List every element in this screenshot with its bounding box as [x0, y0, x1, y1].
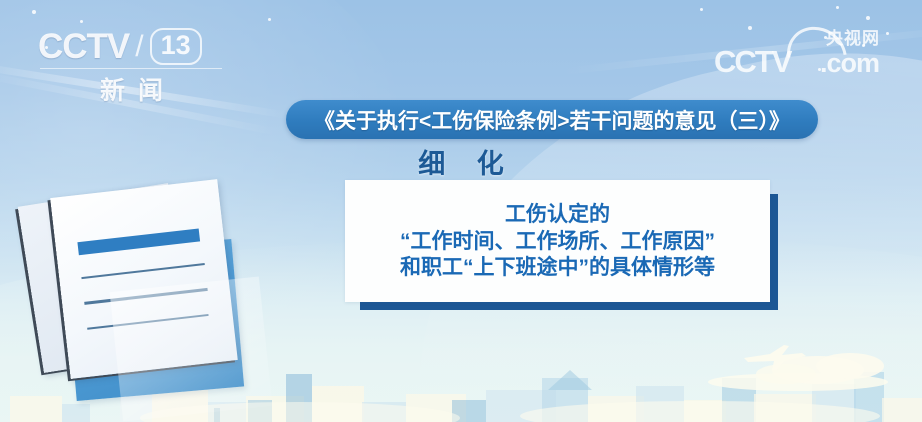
watermark-cn-text: 央视网 [826, 30, 880, 47]
broadcast-graphic-frame: CCTV / 13 新闻 CCTV 央视网 .com 《关于执行<工伤保险条例>… [0, 0, 922, 422]
card-shadow-bottom [360, 302, 778, 310]
document-title-bar [77, 229, 200, 256]
sparkle-dot [836, 6, 839, 9]
document-text-line [87, 314, 209, 330]
headline-subtitle: 细 化 [0, 142, 922, 181]
content-line-3: 和职工“上下班途中”的具体情形等 [400, 255, 715, 282]
logo-slash: / [135, 30, 143, 64]
logo-divider [40, 68, 222, 69]
content-card: 工伤认定的 “工作时间、工作场所、工作原因” 和职工“上下班途中”的具体情形等 [345, 180, 770, 302]
sparkle-dot [866, 16, 870, 20]
logo-channel-number: 13 [150, 28, 202, 65]
headline-banner: 《关于执行<工伤保险条例>若干问题的意见（三）》 [286, 100, 818, 139]
watermark-com-text: .com [820, 50, 879, 77]
content-line-2: “工作时间、工作场所、工作原因” [400, 229, 715, 256]
cctv-com-watermark: CCTV 央视网 .com [714, 30, 900, 82]
stacked-documents-icon [12, 176, 272, 401]
logo-wordmark: CCTV [38, 29, 129, 64]
headline-title: 《关于执行<工伤保险条例>若干问题的意见（三）》 [314, 105, 790, 135]
content-card-face: 工伤认定的 “工作时间、工作场所、工作原因” 和职工“上下班途中”的具体情形等 [345, 180, 770, 302]
sparkle-dot [32, 10, 36, 14]
cctv13-channel-logo: CCTV / 13 新闻 [38, 28, 238, 94]
card-shadow-right [770, 194, 778, 310]
document-text-line [81, 263, 205, 280]
sparkle-dot [80, 20, 83, 23]
sparkle-dot [700, 8, 703, 11]
document-text-line [84, 288, 208, 305]
logo-subtitle: 新闻 [38, 71, 238, 107]
sparkle-dot [268, 18, 271, 21]
content-line-1: 工伤认定的 [505, 202, 610, 229]
watermark-cctv-text: CCTV [714, 46, 790, 77]
airplane-icon [740, 344, 810, 372]
document-sheet-front [50, 179, 238, 379]
